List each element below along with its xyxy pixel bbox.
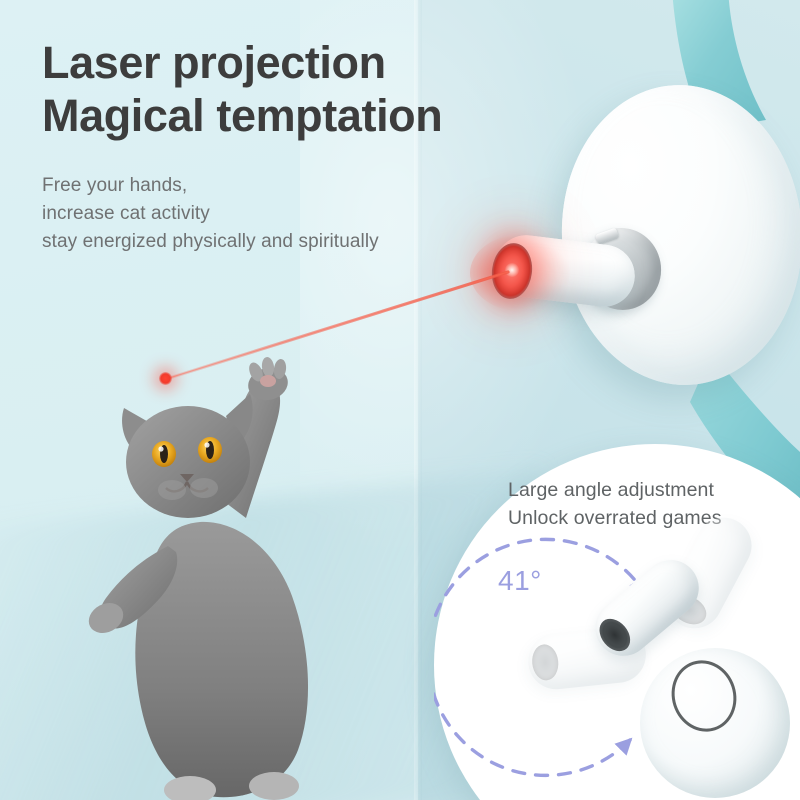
cat-head [126,406,250,518]
cat-illustration [40,350,400,800]
cat-paw-hind-right [249,772,299,800]
product-poster: Laser projection Magical temptation Free… [0,0,800,800]
angle-value-label: 41° [498,565,542,597]
